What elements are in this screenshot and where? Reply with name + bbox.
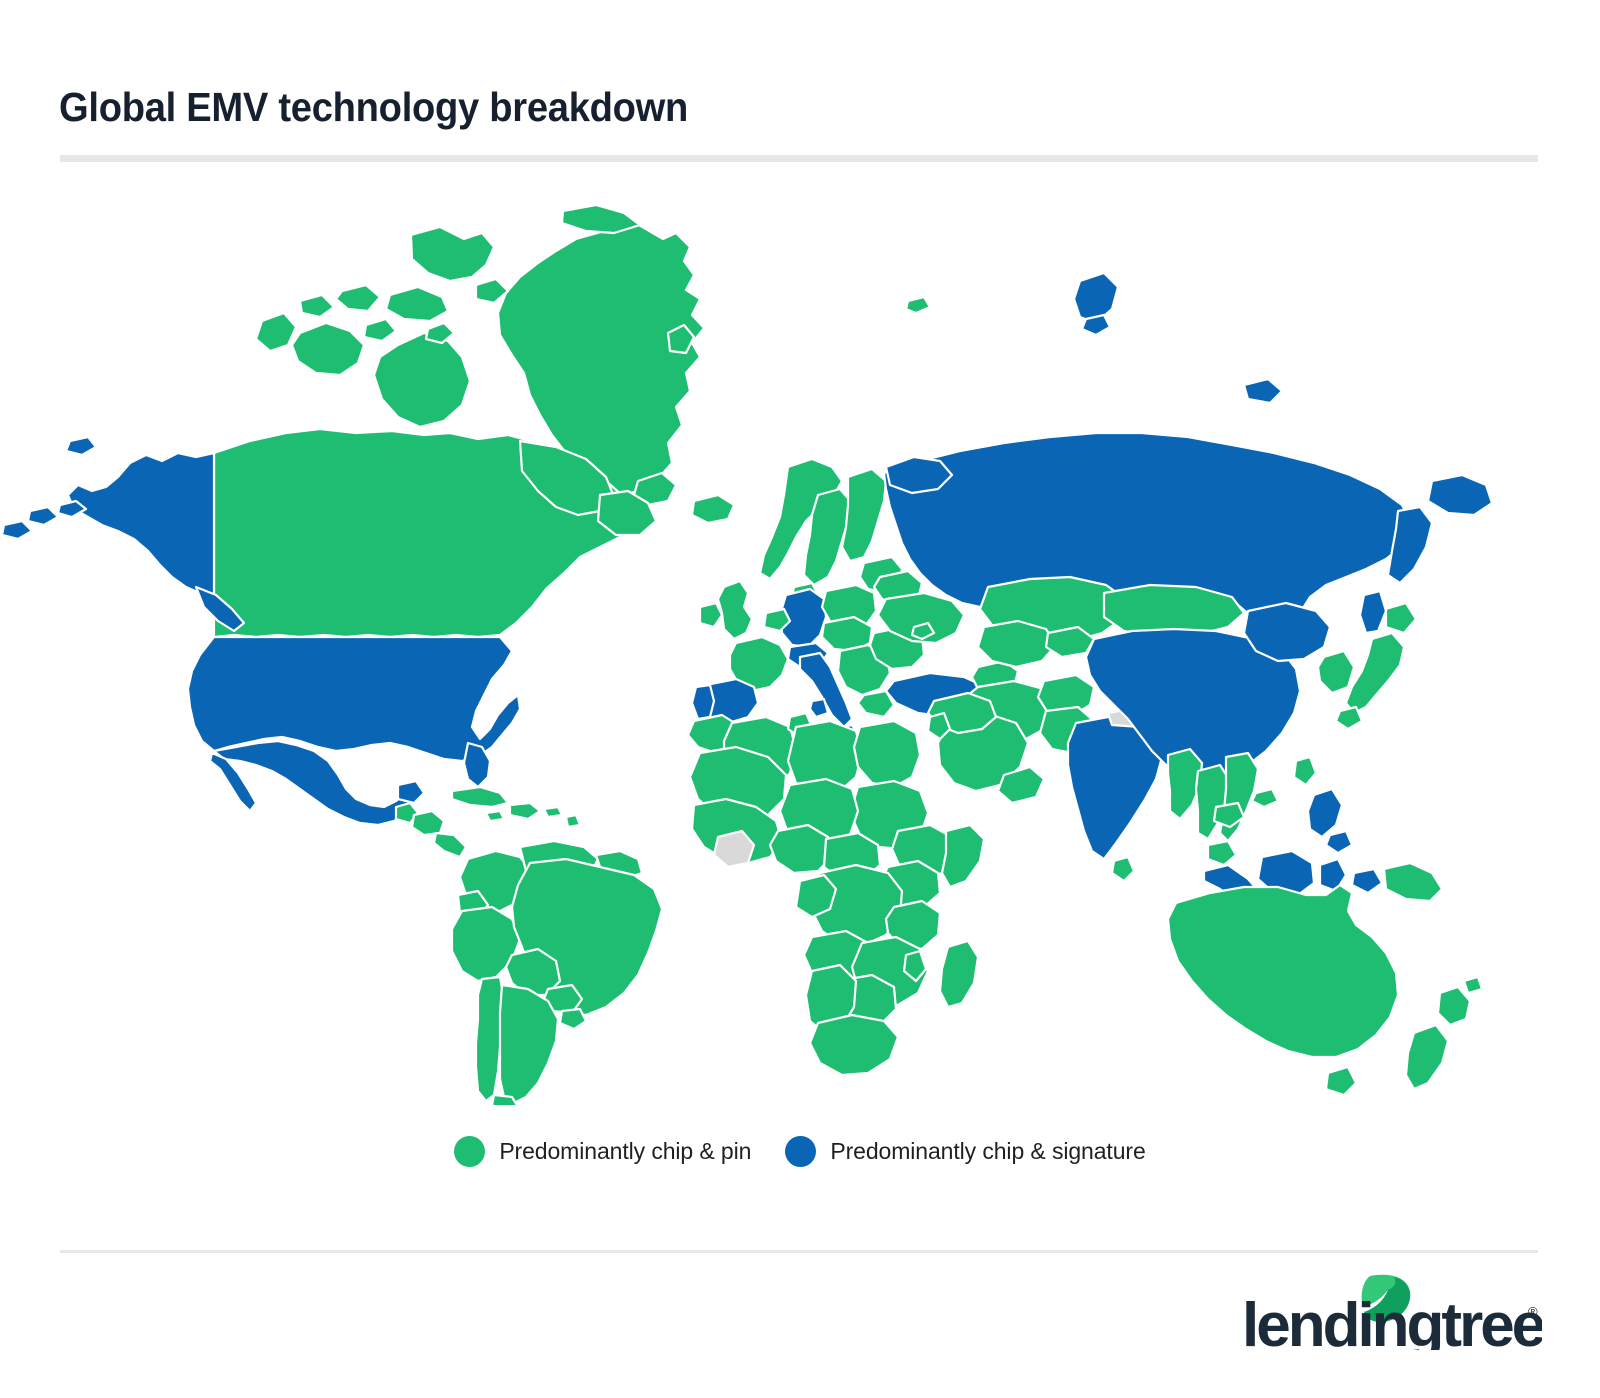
region-japan-kyushu [1336, 707, 1362, 729]
region-indonesia-east [1352, 869, 1382, 893]
region-arctic-isle-d [426, 323, 454, 343]
region-new-zealand-north [1438, 987, 1470, 1025]
region-philippines-south [1326, 831, 1352, 853]
region-finland [842, 469, 886, 561]
region-united-states [188, 637, 520, 761]
region-ireland [700, 603, 722, 627]
region-ellesmere [411, 227, 494, 281]
region-arctic-isle-b [300, 295, 334, 317]
region-arctic-isle-g [906, 297, 930, 313]
region-arctic-tip [66, 437, 96, 455]
brand-trademark: ® [1528, 1304, 1538, 1319]
region-arctic-isle-f [1244, 379, 1282, 403]
region-banks [256, 313, 296, 351]
region-lesser-antilles [566, 815, 580, 827]
region-uzbekistan-turkmenistan [978, 621, 1056, 667]
region-aleutians-b [28, 507, 58, 525]
region-victoria [292, 323, 364, 375]
region-south-africa [810, 1015, 898, 1075]
page-title: Global EMV technology breakdown [59, 84, 688, 131]
region-alaska [68, 453, 214, 595]
legend-item-chip-signature[interactable]: Predominantly chip & signature [785, 1136, 1145, 1167]
region-laos-vietnam [1220, 753, 1258, 841]
region-hainan [1252, 789, 1278, 807]
region-greenland-north [562, 205, 640, 233]
region-nz-islet [1464, 977, 1482, 993]
region-cuba [452, 787, 508, 807]
header-divider [60, 155, 1538, 162]
region-uk [718, 581, 752, 639]
region-madagascar [940, 941, 978, 1007]
infographic-page: Global EMV technology breakdown [0, 0, 1600, 1398]
region-honduras-nicaragua [412, 811, 444, 835]
region-uruguay [560, 1009, 586, 1029]
region-baffin [374, 333, 470, 427]
map-legend: Predominantly chip & pin Predominantly c… [0, 1128, 1600, 1174]
region-portugal [692, 685, 714, 719]
region-new-zealand-south [1406, 1025, 1448, 1089]
region-north-south-korea [1318, 651, 1354, 693]
legend-swatch-green-icon [454, 1136, 485, 1167]
footer-divider [60, 1250, 1538, 1253]
region-jamaica [486, 811, 504, 821]
legend-label-chip-signature: Predominantly chip & signature [830, 1138, 1145, 1165]
region-malaysia [1208, 841, 1236, 865]
region-tasmania [1326, 1067, 1356, 1095]
region-sardinia [810, 699, 828, 717]
region-sri-lanka [1112, 857, 1134, 881]
lendingtree-logo-svg: lendingtree ® [1242, 1270, 1542, 1350]
region-china-northeast [1244, 603, 1330, 661]
brand-wordmark: lendingtree [1242, 1291, 1542, 1350]
region-arctic-isle-c [364, 319, 396, 341]
region-japan-hokkaido [1386, 603, 1416, 633]
region-puerto-rico [544, 807, 562, 817]
region-svalbard [1082, 315, 1110, 335]
legend-item-chip-pin[interactable]: Predominantly chip & pin [454, 1136, 751, 1167]
region-costa-rica-panama [434, 833, 466, 857]
region-cote-divoire [714, 831, 754, 867]
region-japan [1346, 633, 1404, 713]
region-novaya-zemlya [1074, 273, 1118, 323]
region-russia-chukotka [1428, 475, 1492, 515]
header: Global EMV technology breakdown [0, 0, 1600, 180]
region-iceland [692, 495, 734, 523]
region-egypt [854, 721, 920, 787]
region-philippines [1308, 789, 1342, 837]
region-australia [1168, 885, 1398, 1057]
region-russia-sakhalin [1360, 591, 1386, 633]
legend-swatch-blue-icon [785, 1136, 816, 1167]
region-papua-new-guinea [1384, 863, 1442, 901]
region-somalia [942, 825, 984, 887]
region-argentina [500, 985, 558, 1103]
region-aleutians-c [2, 521, 32, 539]
world-map [0, 195, 1600, 1105]
region-yucatan [398, 781, 424, 803]
region-hispaniola [510, 803, 540, 819]
world-map-svg [0, 195, 1600, 1105]
region-arctic-isle-a [336, 285, 380, 311]
region-taiwan [1294, 757, 1316, 785]
region-devon [386, 287, 448, 321]
lendingtree-logo[interactable]: lendingtree ® [1242, 1278, 1542, 1350]
legend-label-chip-pin: Predominantly chip & pin [499, 1138, 751, 1165]
